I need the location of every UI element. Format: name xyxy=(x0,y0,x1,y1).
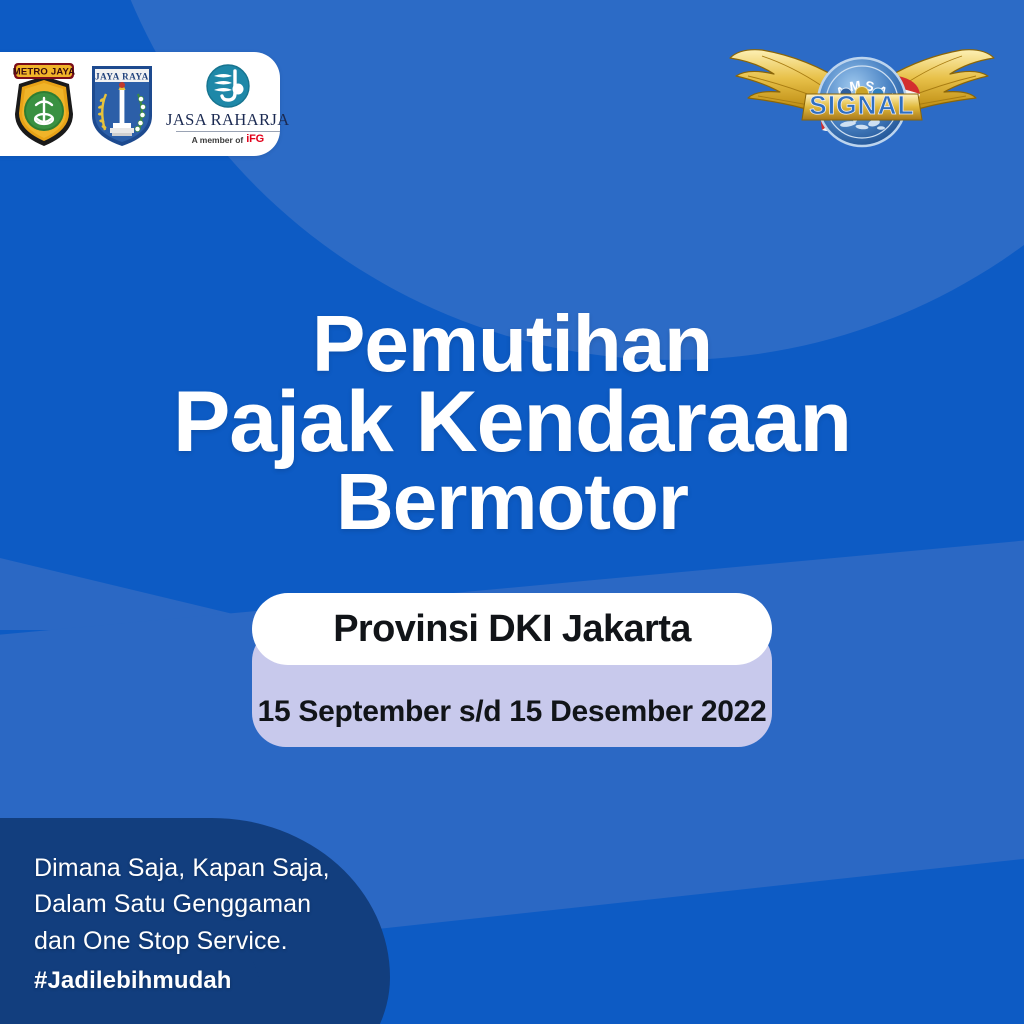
signal-banner: SIGNAL xyxy=(802,90,922,120)
jasa-raharja-mark xyxy=(202,63,254,111)
metro-jaya-police-emblem: METRO JAYA xyxy=(6,58,82,150)
ifg-brand: iFG xyxy=(246,134,264,145)
member-prefix: A member of xyxy=(192,136,244,145)
headline-line-2: Pajak Kendaraan xyxy=(40,382,984,464)
tagline-line-1: Dimana Saja, Kapan Saja, xyxy=(34,850,330,886)
headline-line-1: Pemutihan xyxy=(40,306,984,382)
jasa-raharja-member-line: A member of iFG xyxy=(192,134,264,145)
province-date-badge: 15 September s/d 15 Desember 2022 Provin… xyxy=(252,593,772,665)
headline-line-3: Bermotor xyxy=(40,464,984,540)
dki-jakarta-emblem: JAYA RAYA xyxy=(86,58,158,150)
partner-logo-card: METRO JAYA JAYA RAYA xyxy=(0,52,280,156)
poster-canvas: METRO JAYA JAYA RAYA xyxy=(0,0,1024,1024)
svg-text:METRO JAYA: METRO JAYA xyxy=(13,67,76,78)
tagline-line-2: Dalam Satu Genggaman xyxy=(34,886,330,922)
province-text: Provinsi DKI Jakarta xyxy=(333,608,691,651)
tagline-block: Dimana Saja, Kapan Saja, Dalam Satu Geng… xyxy=(34,850,330,995)
samsat-signal-digital-nasional-crest: SAMSAT DIGITAL NASIONAL SIGNAL xyxy=(722,32,1002,172)
tagline-line-3: dan One Stop Service. xyxy=(34,923,330,959)
page-title: Pemutihan Pajak Kendaraan Bermotor xyxy=(0,306,1024,540)
svg-text:JAYA RAYA: JAYA RAYA xyxy=(95,72,149,82)
jasa-raharja-name: JASA RAHARJA xyxy=(166,112,290,129)
divider xyxy=(176,131,280,132)
date-range-text: 15 September s/d 15 Desember 2022 xyxy=(258,695,767,729)
province-pill: Provinsi DKI Jakarta xyxy=(252,593,772,665)
hashtag: #Jadilebihmudah xyxy=(34,967,330,995)
jasa-raharja-logo: JASA RAHARJA A member of iFG xyxy=(166,63,290,146)
crest-banner-text: SIGNAL xyxy=(809,90,914,120)
